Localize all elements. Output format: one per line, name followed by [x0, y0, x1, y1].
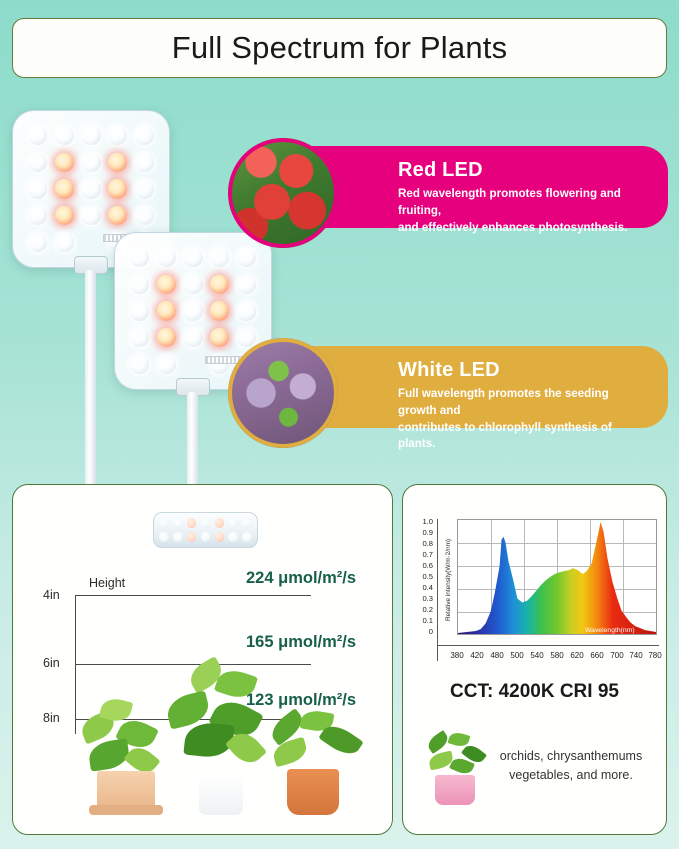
led-dot-red [108, 153, 127, 172]
height-line-4in [75, 595, 311, 596]
led-dot-white [157, 355, 176, 374]
led-dot-white [135, 179, 154, 198]
spectrum-curve [458, 520, 656, 634]
ppfd-value-4in: 224 μmol/m²/s [246, 569, 356, 588]
led-dot-red [157, 328, 176, 347]
led-dot-white [237, 275, 256, 294]
photo-ring [228, 338, 338, 448]
spectrum-plot-area [457, 519, 657, 635]
red-led-heading: Red LED [398, 159, 650, 182]
led-dot-white [183, 275, 202, 294]
feature-white-led: White LED Full wavelength promotes the s… [228, 338, 668, 438]
led-dot-white [173, 532, 183, 542]
spectrum-x-tick: 580 [546, 651, 568, 660]
plant-pot [435, 775, 475, 805]
led-dot-white [159, 518, 169, 528]
led-dot-white [173, 518, 183, 528]
led-dot-white [242, 518, 252, 528]
lamp-bar-graphic [153, 512, 258, 548]
feature-red-led: Red LED Red wavelength promotes flowerin… [228, 138, 668, 238]
led-dot-white [237, 301, 256, 320]
white-led-heading: White LED [398, 359, 650, 382]
led-dot-white [228, 518, 238, 528]
led-dot-red [55, 179, 74, 198]
led-dot-white [28, 153, 47, 172]
spectrum-x-tick: 380 [446, 651, 468, 660]
led-dot-white [130, 301, 149, 320]
potted-plant-right [263, 707, 367, 815]
spectrum-y-tick: 0 [417, 627, 433, 636]
white-led-pill: White LED Full wavelength promotes the s… [283, 346, 668, 428]
spectrum-chart: Relative intensity(W/m·2/nm) 1.0 0.9 0.8… [409, 499, 662, 667]
white-led-body-line1: Full wavelength promotes the seeding gro… [398, 386, 650, 420]
plant-pot [287, 769, 339, 815]
spectrum-x-tick: 660 [586, 651, 608, 660]
height-tick-8in: 8in [43, 711, 60, 725]
spectrum-y-tick: 0.8 [417, 539, 433, 548]
led-dot-white [28, 126, 47, 145]
spectrum-y-tick: 0.5 [417, 572, 433, 581]
pot-saucer [89, 805, 163, 815]
led-dot-white [130, 355, 149, 374]
led-dot-white [135, 206, 154, 225]
spectrum-y-axis-line [437, 519, 438, 661]
height-tick-6in: 6in [43, 656, 60, 670]
led-dot-white [135, 153, 154, 172]
led-dot-white [228, 532, 238, 542]
led-dot-white [28, 179, 47, 198]
led-dot-white [201, 532, 211, 542]
cct-cri-text: CCT: 4200K CRI 95 [403, 681, 666, 703]
red-led-body-line2: and effectively enhances photosynthesis. [398, 220, 650, 237]
red-led-body-line1: Red wavelength promotes flowering and fr… [398, 186, 650, 220]
led-dot-red [108, 179, 127, 198]
led-dot-red [157, 301, 176, 320]
led-dot-red [215, 532, 225, 542]
led-dot-white [55, 233, 74, 252]
led-dot-white [55, 126, 74, 145]
mini-potted-plant [425, 733, 487, 805]
led-dot-white [81, 179, 100, 198]
led-dot-red [55, 153, 74, 172]
led-pole-front [187, 392, 198, 490]
spectrum-y-tick: 0.3 [417, 594, 433, 603]
spectrum-y-tick: 0.1 [417, 616, 433, 625]
led-dot-white [81, 206, 100, 225]
spectrum-y-tick: 0.2 [417, 605, 433, 614]
photo-ring [228, 138, 338, 248]
led-dot-white [157, 248, 176, 267]
ppfd-value-6in: 165 μmol/m²/s [246, 633, 356, 652]
seedling-photo [228, 338, 338, 448]
led-dot-red [55, 206, 74, 225]
led-dot-white [28, 233, 47, 252]
led-dot-white [28, 206, 47, 225]
led-dot-white [130, 248, 149, 267]
led-dot-gap [81, 233, 100, 252]
led-dot-white [81, 126, 100, 145]
led-dot-white [201, 518, 211, 528]
spectrum-x-tick: 620 [566, 651, 588, 660]
height-axis-caption: Height [89, 576, 125, 590]
spectrum-y-tick: 0.6 [417, 561, 433, 570]
led-dot-white [159, 532, 169, 542]
spectrum-x-axis-line [437, 645, 659, 646]
led-dot-white [183, 248, 202, 267]
led-pole-back [85, 270, 96, 490]
spectrum-y-tick: 0.7 [417, 550, 433, 559]
usage-line-1: orchids, chrysanthemums [491, 747, 651, 766]
led-dot-white [130, 328, 149, 347]
spectrum-x-axis-label: Wavelength(nm) [585, 627, 635, 634]
led-dot-white [130, 275, 149, 294]
ppfd-card: Height 4in 224 μmol/m²/s 6in 165 μmol/m²… [12, 484, 393, 835]
lamp-bar-leds [157, 516, 254, 544]
led-dot-red [210, 328, 229, 347]
led-dot-red [157, 275, 176, 294]
led-dot-red [210, 301, 229, 320]
spectrum-x-tick: 780 [644, 651, 666, 660]
led-dot-white [183, 301, 202, 320]
led-dot-red [215, 518, 225, 528]
spectrum-x-tick: 480 [486, 651, 508, 660]
led-dot-white [242, 532, 252, 542]
led-dot-red [210, 275, 229, 294]
led-dot-white [210, 248, 229, 267]
page-title: Full Spectrum for Plants [172, 30, 508, 66]
page-title-banner: Full Spectrum for Plants [12, 18, 667, 78]
usage-line-2: vegetables, and more. [491, 766, 651, 785]
spectrum-y-tick: 1.0 [417, 517, 433, 526]
spectrum-y-axis-label: Relative intensity(W/m·2/nm) [445, 539, 452, 621]
plant-pot [199, 775, 243, 815]
spectrum-card: Relative intensity(W/m·2/nm) 1.0 0.9 0.8… [402, 484, 667, 835]
led-dot-red [187, 532, 197, 542]
led-dot-white [108, 126, 127, 145]
tomato-photo [228, 138, 338, 248]
leaf [87, 738, 131, 771]
spectrum-x-tick: 500 [506, 651, 528, 660]
led-dot-red [108, 206, 127, 225]
led-dot-white [237, 248, 256, 267]
led-dot-white [135, 126, 154, 145]
led-dot-white [81, 153, 100, 172]
leaf [183, 721, 234, 760]
spectrum-y-tick: 0.9 [417, 528, 433, 537]
height-tick-4in: 4in [43, 588, 60, 602]
spectrum-y-tick: 0.4 [417, 583, 433, 592]
white-led-body-line2: contributes to chlorophyll synthesis of … [398, 420, 650, 454]
led-dot-gap [183, 355, 202, 374]
led-dot-red [187, 518, 197, 528]
red-led-pill: Red LED Red wavelength promotes flowerin… [283, 146, 668, 228]
led-dot-white [183, 328, 202, 347]
spectrum-x-tick: 540 [526, 651, 548, 660]
spectrum-x-tick: 420 [466, 651, 488, 660]
usage-text: orchids, chrysanthemums vegetables, and … [491, 747, 651, 785]
